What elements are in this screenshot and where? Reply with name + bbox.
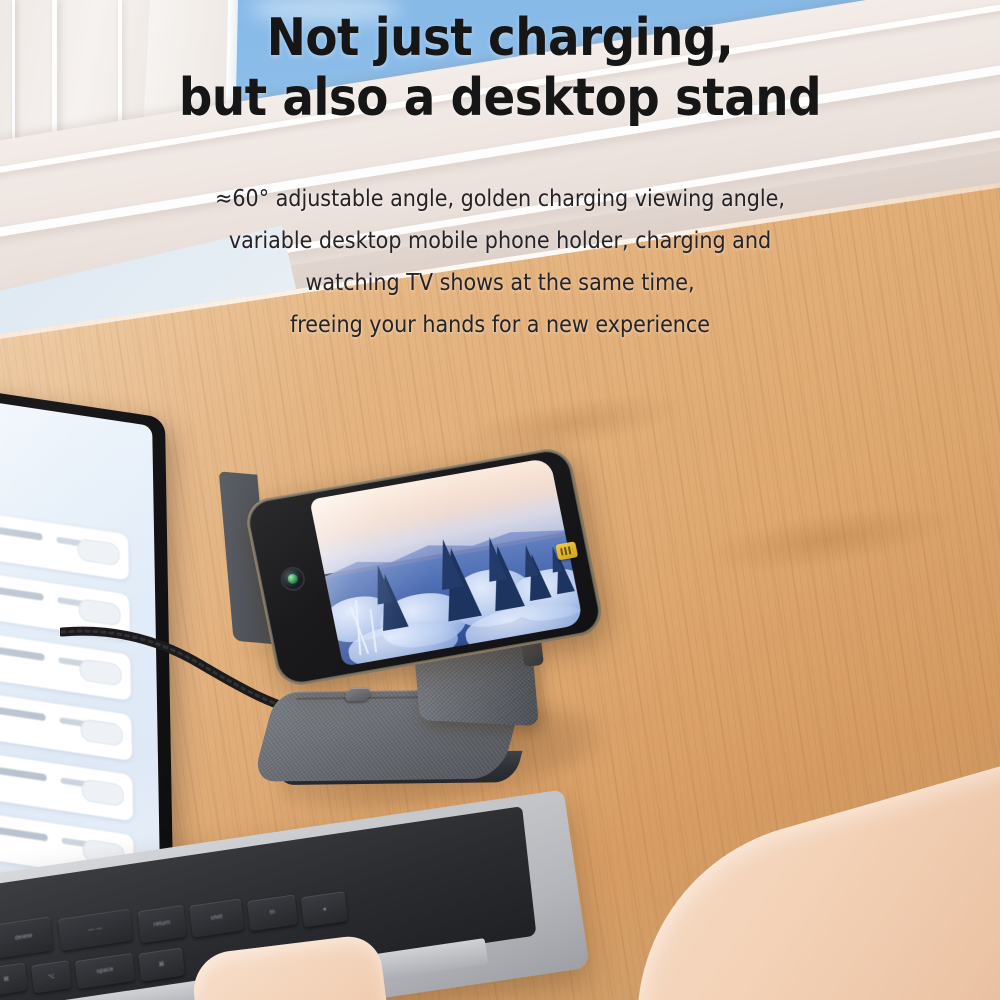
phone-corner-badge [555, 541, 578, 560]
phone-metal-rail [243, 445, 606, 689]
subtitle-line-1: ≈60° adjustable angle, golden charging v… [0, 178, 1000, 220]
keyboard-key: space [75, 953, 136, 989]
keyboard-key: fn [247, 894, 298, 931]
list-item-title [0, 703, 46, 721]
list-item-title [0, 643, 45, 661]
list-item-title [0, 823, 48, 841]
keyboard-key: ◂ [301, 891, 348, 927]
badge-mark [560, 546, 573, 556]
keyboard-key: ⌘ [138, 947, 185, 981]
keyboard-key: ⌥ [31, 960, 72, 993]
keyboard-key: return [138, 905, 187, 944]
list-item-title [0, 763, 47, 781]
subtitle-line-4: freeing your hands for a new experience [0, 304, 1000, 346]
subtitle-line-3: watching TV shows at the same time, [0, 262, 1000, 304]
screen-list-item [0, 505, 129, 581]
list-item-title [0, 583, 44, 601]
list-item-title [0, 523, 42, 541]
keyboard-key: — — [58, 909, 133, 951]
keyboard-key: delete [0, 916, 53, 958]
keyboard-key: shift [189, 898, 244, 937]
list-item-badge [77, 538, 119, 566]
subtitle-block: ≈60° adjustable angle, golden charging v… [0, 178, 1000, 346]
list-item-badge [78, 598, 120, 626]
phone-stand-assembly: yesido [268, 470, 638, 820]
headline-line-2: but also a desktop stand [0, 72, 1000, 125]
page-title: Not just charging, but also a desktop st… [0, 12, 1000, 125]
product-marketing-image: delete — — return shift fn ◂ ⌘ ⌥ space ⌘ [0, 0, 1000, 1000]
list-item-badge [82, 779, 124, 807]
smartphone [243, 445, 606, 689]
headline-line-1: Not just charging, [0, 12, 1000, 65]
camera-lens [287, 573, 299, 585]
subtitle-line-2: variable desktop mobile phone holder, ch… [0, 220, 1000, 262]
keyboard-key: ⌘ [0, 963, 28, 997]
